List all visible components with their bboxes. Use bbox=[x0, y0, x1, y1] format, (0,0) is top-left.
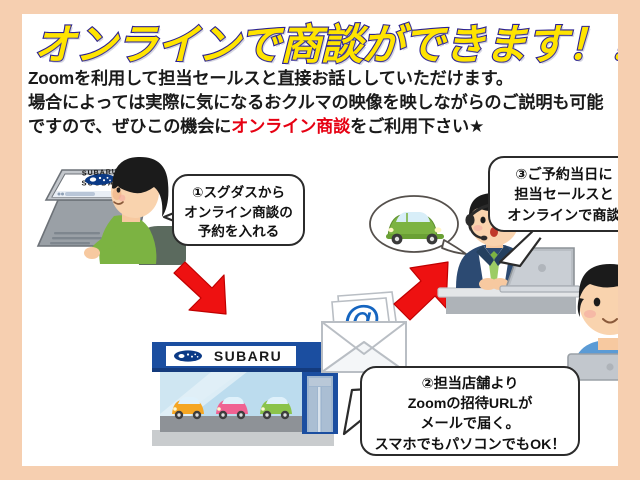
callout-step1-line2: オンライン商談の bbox=[174, 203, 303, 223]
callout-step2-line4: スマホでもパソコンでもOK！ bbox=[362, 435, 578, 455]
body-line-3-highlight: オンライン商談 bbox=[231, 116, 350, 136]
callout-step3-line1: ③ご予約当日に bbox=[490, 165, 618, 185]
callout-step2-line1: ②担当店舗より bbox=[362, 374, 578, 394]
callout-step2: ②担当店舗より Zoomの招待URLが メールで届く。 スマホでもパソコンでもO… bbox=[360, 366, 580, 456]
callout-step3-line2: 担当セールスと bbox=[490, 185, 618, 205]
callout-step3: ③ご予約当日に 担当セールスと オンラインで商談 bbox=[488, 156, 618, 232]
poster-body-text: Zoomを利用して担当セールスと直接お話ししていただけます。 場合によっては実際… bbox=[28, 66, 616, 138]
poster-canvas: オンラインで商談ができます！！ Zoomを利用して担当セールスと直接お話ししてい… bbox=[22, 14, 618, 466]
callout-step1: ①スグダスから オンライン商談の 予約を入れる bbox=[172, 174, 305, 246]
illustration-customer-boy bbox=[562, 246, 618, 378]
body-line-3-after: をご利用下さい★ bbox=[350, 116, 484, 136]
poster-root: オンラインで商談ができます！！ Zoomを利用して担当セールスと直接お話ししてい… bbox=[0, 0, 640, 480]
arrow-step1-to-step2 bbox=[168, 256, 248, 328]
callout-step2-line2: Zoomの招待URLが bbox=[362, 394, 578, 414]
body-line-3: ですので、ぜひこの機会にオンライン商談をご利用下さい★ bbox=[28, 114, 616, 138]
dealership-sign-label: SUBARU bbox=[214, 348, 282, 364]
callout-step3-tail bbox=[498, 226, 546, 268]
callout-step1-line1: ①スグダスから bbox=[174, 183, 303, 203]
body-line-1: Zoomを利用して担当セールスと直接お話ししていただけます。 bbox=[28, 66, 616, 90]
callout-step2-line3: メールで届く。 bbox=[362, 414, 578, 434]
body-line-2: 場合によっては実際に気になるおクルマの映像を映しながらのご説明も可能 bbox=[28, 90, 616, 114]
poster-title: オンラインで商談ができます！！ bbox=[34, 20, 614, 70]
illustration-dealership: SUBARU bbox=[146, 324, 342, 456]
callout-step3-line3: オンラインで商談 bbox=[490, 206, 618, 226]
callout-step1-line3: 予約を入れる bbox=[174, 222, 303, 242]
body-line-3-before: ですので、ぜひこの機会に bbox=[28, 116, 231, 136]
